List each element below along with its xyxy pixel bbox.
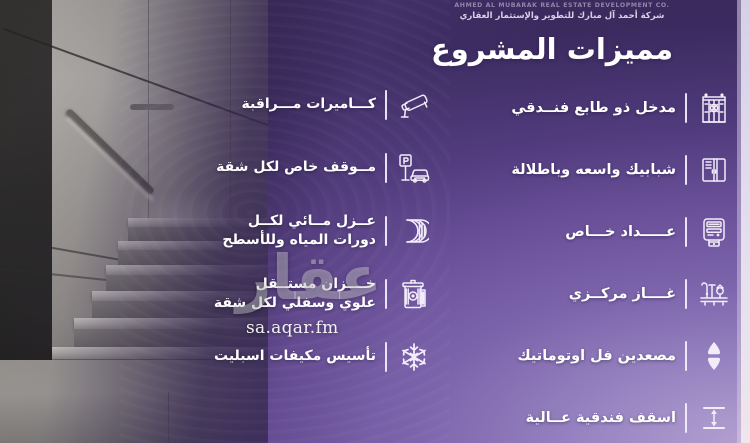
feature-item-central-gas: غــــاز مركــزي <box>462 266 732 322</box>
feature-label-line1: عــزل مــائي لكــل <box>166 212 376 231</box>
feature-item-cctv: كـــاميرات مـــراقبة <box>164 76 432 133</box>
features-column-right: مدخل ذو طابع فنــدقي شبابيك واسعه وباطلا… <box>462 80 732 443</box>
feature-label: عـــــداد خـــاص <box>462 223 676 242</box>
waterproof-membrane-icon <box>396 211 432 251</box>
electric-meter-icon <box>696 212 732 252</box>
feature-label-line1: كـــاميرات مـــراقبة <box>242 96 377 112</box>
right-edge-strip <box>741 0 750 443</box>
feature-item-split-ac: تأسيس مكيفات اسبليت <box>164 328 432 385</box>
feature-label: خــــزان مستــقل علوي وسفلي لكل شقة <box>164 275 376 313</box>
feature-label: مدخل ذو طابع فنــدقي <box>462 99 676 118</box>
water-tank-icon <box>396 274 432 314</box>
feature-label: مــوقف خاص لكل شقة <box>164 158 376 177</box>
feature-label: غــــاز مركــزي <box>462 285 676 304</box>
feature-label: كـــاميرات مـــراقبة <box>164 95 376 114</box>
promo-poster: AHMED AL MUBARAK REAL ESTATE DEVELOPMENT… <box>0 0 750 443</box>
divider <box>685 217 687 247</box>
feature-label: اسقف فندقية عــالية <box>462 409 676 428</box>
feature-item-waterproofing: عــزل مــائي لكــل دورات المياه وللأسطح <box>164 202 432 259</box>
divider <box>685 93 687 123</box>
feature-item-high-ceilings: اسقف فندقية عــالية <box>462 390 732 443</box>
cctv-camera-icon <box>396 85 432 125</box>
divider <box>685 403 687 433</box>
feature-label: عــزل مــائي لكــل دورات المياه وللأسطح <box>164 212 376 250</box>
feature-item-entrance: مدخل ذو طابع فنــدقي <box>462 80 732 136</box>
snowflake-icon <box>396 337 432 377</box>
features-column-left: كـــاميرات مـــراقبة مــوقف خ <box>164 76 432 391</box>
feature-label-line2: دورات المياه وللأسطح <box>166 231 376 250</box>
ornate-gate-icon <box>696 88 732 128</box>
gas-valve-icon <box>696 274 732 314</box>
divider <box>385 279 387 309</box>
feature-item-water-tank: خــــزان مستــقل علوي وسفلي لكل شقة <box>164 265 432 322</box>
divider <box>385 216 387 246</box>
feature-item-windows: شبابيك واسعه وباطلالة <box>462 142 732 198</box>
ceiling-height-icon <box>696 398 732 438</box>
feature-item-elevators: مصعدين فل اوتوماتيك <box>462 328 732 384</box>
feature-label: شبابيك واسعه وباطلالة <box>462 161 676 180</box>
feature-label-line2: علوي وسفلي لكل شقة <box>166 294 376 313</box>
feature-label: مصعدين فل اوتوماتيك <box>462 347 676 366</box>
feature-label-line1: تأسيس مكيفات اسبليت <box>214 348 376 364</box>
elevator-icon <box>696 336 732 376</box>
parking-car-icon <box>396 148 432 188</box>
divider <box>385 153 387 183</box>
divider <box>685 155 687 185</box>
divider <box>385 342 387 372</box>
feature-label-line1: مــوقف خاص لكل شقة <box>216 159 376 175</box>
divider <box>385 90 387 120</box>
feature-label-line1: خــــزان مستــقل <box>166 275 376 294</box>
feature-item-parking: مــوقف خاص لكل شقة <box>164 139 432 196</box>
divider <box>685 279 687 309</box>
page-title: مميزات المشروع <box>406 32 698 66</box>
feature-label: تأسيس مكيفات اسبليت <box>164 347 376 366</box>
window-icon <box>696 150 732 190</box>
divider <box>685 341 687 371</box>
feature-item-private-meter: عـــــداد خـــاص <box>462 204 732 260</box>
